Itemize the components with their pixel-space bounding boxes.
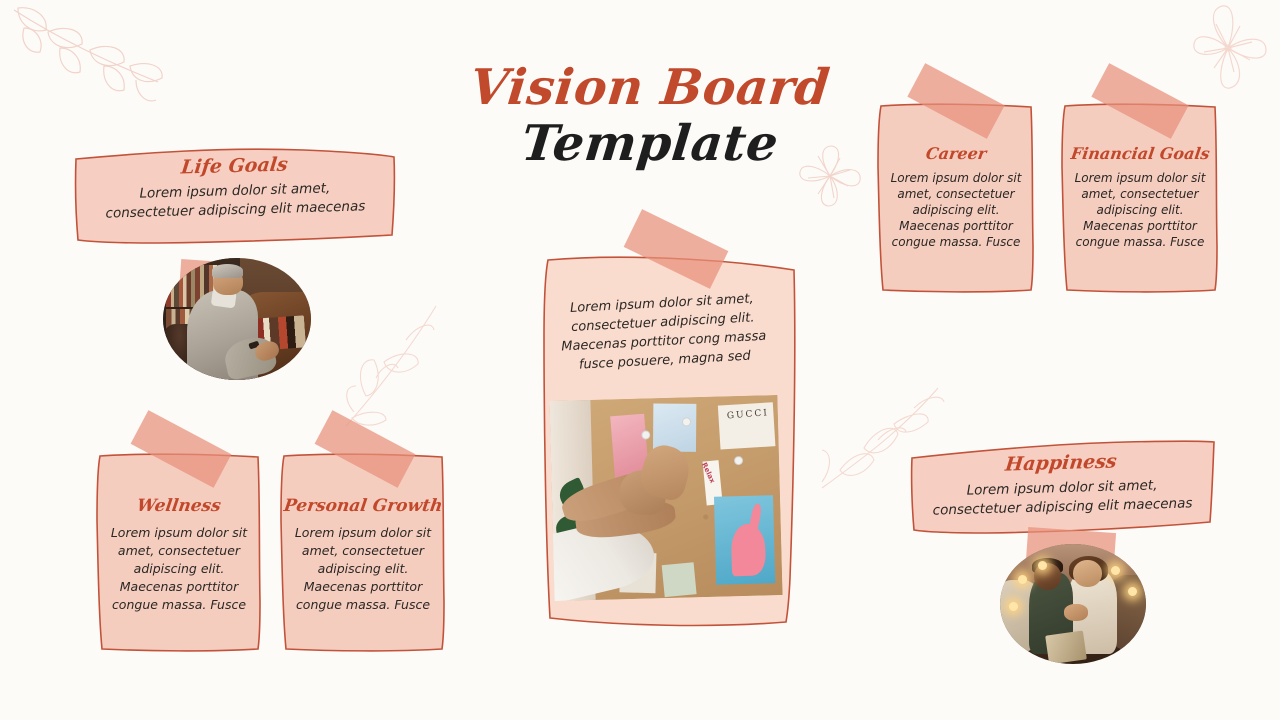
- card-career[interactable]: Career Lorem ipsum dolor sit amet, conse…: [873, 100, 1039, 296]
- card-text-line-4: Maecenas porttitor: [899, 219, 1013, 233]
- slide-canvas: Vision Board Template Life Goals Lorem i…: [0, 0, 1280, 720]
- card-heading: Financial Goals: [1069, 144, 1210, 163]
- card-heading: Life Goals: [180, 153, 289, 178]
- card-heading: Personal Growth: [282, 496, 443, 516]
- card-body: Life Goals Lorem ipsum dolor sit amet, c…: [71, 138, 400, 252]
- card-heading: Career: [924, 144, 987, 163]
- leaf-branch-mid-left-icon: [336, 300, 456, 430]
- card-text-line-2: amet, consectetuer: [118, 543, 240, 558]
- card-text-line-5: congue massa. Fusce: [296, 597, 430, 612]
- card-text-line-4: Maecenas porttitor: [1083, 219, 1197, 233]
- card-body: Financial Goals Lorem ipsum dolor sit am…: [1057, 100, 1223, 296]
- card-text-line-2: consectetuer adipiscing elit maecenas: [932, 495, 1192, 518]
- card-heading: Wellness: [136, 496, 223, 516]
- card-life-goals[interactable]: Life Goals Lorem ipsum dolor sit amet, c…: [72, 143, 398, 248]
- card-text-line-1: Lorem ipsum dolor sit: [1075, 171, 1206, 185]
- card-wellness[interactable]: Wellness Lorem ipsum dolor sit amet, con…: [92, 450, 266, 655]
- card-text-line-1: Lorem ipsum dolor sit: [111, 525, 247, 540]
- card-text-line-5: congue massa. Fusce: [1076, 235, 1205, 249]
- leaf-branch-top-left-icon: [8, 4, 198, 114]
- person-reading-at-desk-photo: [163, 258, 311, 380]
- card-text-line-2: amet, consectetuer: [1081, 187, 1198, 201]
- card-text-line-1: Lorem ipsum dolor sit: [891, 171, 1022, 185]
- hands-pinning-vision-board-photo: GUCCI Relax: [549, 395, 782, 601]
- card-text-line-4: Maecenas porttitor: [120, 579, 238, 594]
- children-with-fairy-lights-photo: [1000, 544, 1146, 664]
- card-text-line-3: adipiscing elit.: [318, 561, 409, 576]
- card-text-line-3: adipiscing elit.: [912, 203, 999, 217]
- card-text-line-1: Lorem ipsum dolor sit: [295, 525, 431, 540]
- card-text-line-3: adipiscing elit.: [1096, 203, 1183, 217]
- card-body: Happiness Lorem ipsum dolor sit amet, co…: [905, 432, 1220, 543]
- card-body: Personal Growth Lorem ipsum dolor sit am…: [276, 450, 450, 655]
- card-text-line-2: amet, consectetuer: [897, 187, 1014, 201]
- card-text-line-5: congue massa. Fusce: [112, 597, 246, 612]
- card-text-line-1: Lorem ipsum dolor sit amet,: [966, 477, 1157, 498]
- card-body: Wellness Lorem ipsum dolor sit amet, con…: [92, 450, 266, 655]
- title-line-2: Template: [452, 115, 848, 171]
- card-text-line-2: consectetuer adipiscing elit maecenas: [105, 198, 365, 221]
- card-body: Career Lorem ipsum dolor sit amet, conse…: [873, 100, 1039, 296]
- page-title: Vision Board Template: [455, 62, 845, 172]
- title-line-1: Vision Board: [452, 62, 847, 113]
- card-text-line-2: amet, consectetuer: [302, 543, 424, 558]
- card-personal-growth[interactable]: Personal Growth Lorem ipsum dolor sit am…: [276, 450, 450, 655]
- card-text-line-1: Lorem ipsum dolor sit amet,: [139, 180, 330, 201]
- card-text-line-4: Maecenas porttitor: [304, 579, 422, 594]
- card-happiness[interactable]: Happiness Lorem ipsum dolor sit amet, co…: [906, 436, 1218, 538]
- card-text-line-5: congue massa. Fusce: [892, 235, 1021, 249]
- card-heading: Happiness: [1004, 450, 1118, 475]
- card-text-line-3: adipiscing elit.: [134, 561, 225, 576]
- flower-top-right-icon: [1178, 2, 1278, 94]
- card-financial-goals[interactable]: Financial Goals Lorem ipsum dolor sit am…: [1057, 100, 1223, 296]
